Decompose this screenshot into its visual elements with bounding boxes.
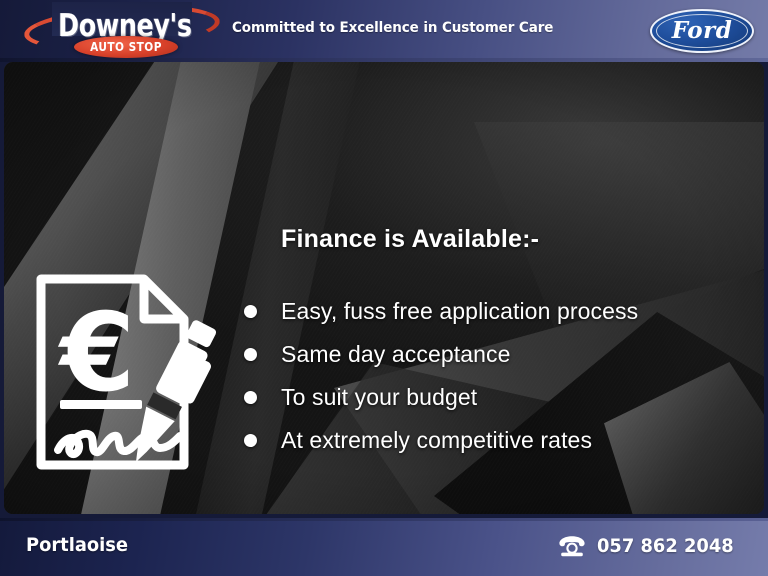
list-item-label: Easy, fuss free application process (281, 298, 638, 325)
contact-phone[interactable]: 057 862 2048 (557, 534, 742, 558)
list-item: To suit your budget (244, 376, 744, 419)
telephone-icon (557, 534, 587, 558)
advert-banner: Downey's AUTO STOP Committed to Excellen… (0, 0, 768, 576)
euro-document-signature-pen-icon: € (34, 272, 224, 472)
benefits-list: Easy, fuss free application process Same… (244, 290, 744, 462)
phone-number-label: 057 862 2048 (597, 535, 734, 557)
list-item-label: To suit your budget (281, 384, 477, 411)
list-item: At extremely competitive rates (244, 419, 744, 462)
page-title: Finance is Available:- (281, 225, 539, 254)
svg-text:€: € (57, 291, 135, 416)
branch-location-label: Portlaoise (26, 534, 128, 556)
bullet-dot-icon (244, 391, 257, 404)
bullet-dot-icon (244, 434, 257, 447)
tagline-text: Committed to Excellence in Customer Care (232, 20, 553, 36)
main-panel: € Finance is Available:- Easy, fuss free… (4, 62, 764, 514)
header-bar: Downey's AUTO STOP Committed to Excellen… (0, 0, 768, 62)
list-item-label: At extremely competitive rates (281, 427, 592, 454)
list-item: Same day acceptance (244, 333, 744, 376)
bullet-dot-icon (244, 305, 257, 318)
list-item: Easy, fuss free application process (244, 290, 744, 333)
bullet-dot-icon (244, 348, 257, 361)
logo-sub-pill: AUTO STOP (74, 36, 178, 58)
downeys-logo[interactable]: Downey's AUTO STOP (24, 2, 224, 60)
ford-logo[interactable]: Ford (650, 9, 754, 53)
footer-bar: Portlaoise 057 862 2048 (0, 518, 768, 576)
ford-wordmark: Ford (650, 9, 754, 53)
list-item-label: Same day acceptance (281, 341, 511, 368)
logo-sub-name: AUTO STOP (80, 36, 172, 58)
